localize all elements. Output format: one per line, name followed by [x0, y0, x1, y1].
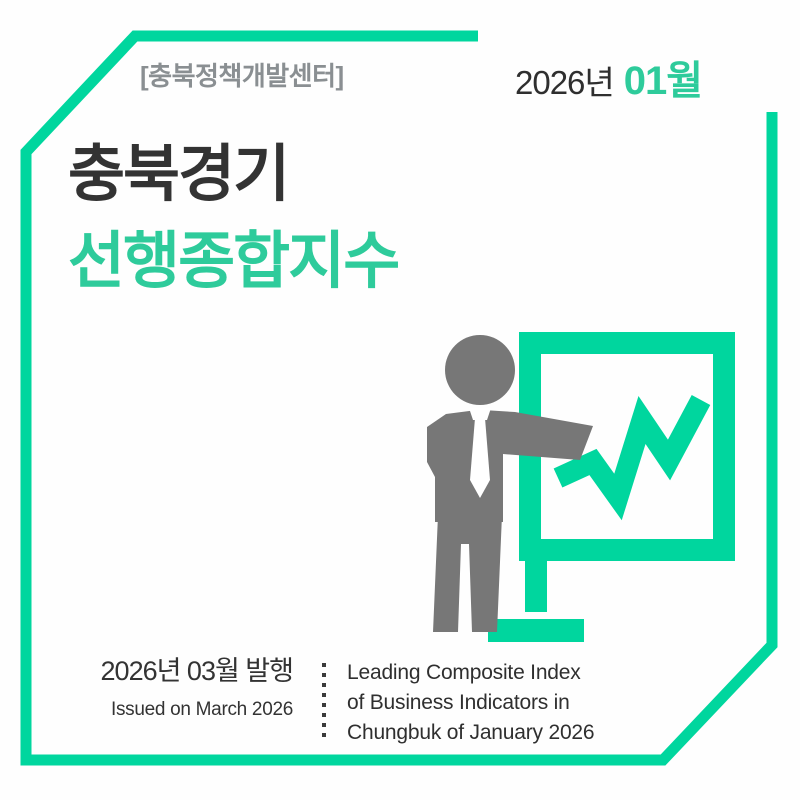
issue-date-english: Issued on March 2026	[68, 698, 293, 723]
separator-dot	[322, 663, 326, 667]
description-line: of Business Indicators in	[347, 688, 594, 718]
title-line-secondary: 선행종합지수	[68, 227, 398, 296]
figure-lower-torso	[435, 452, 503, 522]
issue-year: 2026년	[515, 56, 614, 104]
separator-dot	[322, 673, 326, 677]
board-stand-post	[525, 560, 547, 612]
separator-dot	[322, 713, 326, 717]
presenter-chart-illustration	[425, 332, 735, 644]
page-title: 충북경기 선행종합지수	[68, 140, 398, 297]
english-description: Leading Composite Index of Business Indi…	[347, 655, 594, 747]
title-line-primary: 충북경기	[68, 140, 398, 209]
figure-head	[445, 335, 515, 405]
report-cover-poster: [충북정책개발센터] 2026년 01월 충북경기 선행종합지수	[0, 0, 800, 800]
organization-label: [충북정책개발센터]	[140, 56, 344, 93]
separator-dot	[322, 723, 326, 727]
separator-dots	[322, 663, 326, 737]
board-stand-base	[488, 619, 584, 642]
issue-date-header: 2026년 01월	[515, 48, 702, 106]
issue-date-korean: 2026년 03월 발행	[68, 655, 293, 689]
separator-dot	[322, 733, 326, 737]
footer: 2026년 03월 발행 Issued on March 2026 Leadin…	[68, 655, 688, 747]
separator-dot	[322, 693, 326, 697]
figure-legs	[433, 515, 502, 632]
description-line: Chungbuk of January 2026	[347, 718, 594, 748]
separator-dot	[322, 703, 326, 707]
issue-month: 01월	[624, 48, 702, 106]
separator-dot	[322, 683, 326, 687]
description-line: Leading Composite Index	[347, 658, 594, 688]
dotted-separator	[301, 655, 347, 737]
issue-info: 2026년 03월 발행 Issued on March 2026	[68, 655, 301, 722]
